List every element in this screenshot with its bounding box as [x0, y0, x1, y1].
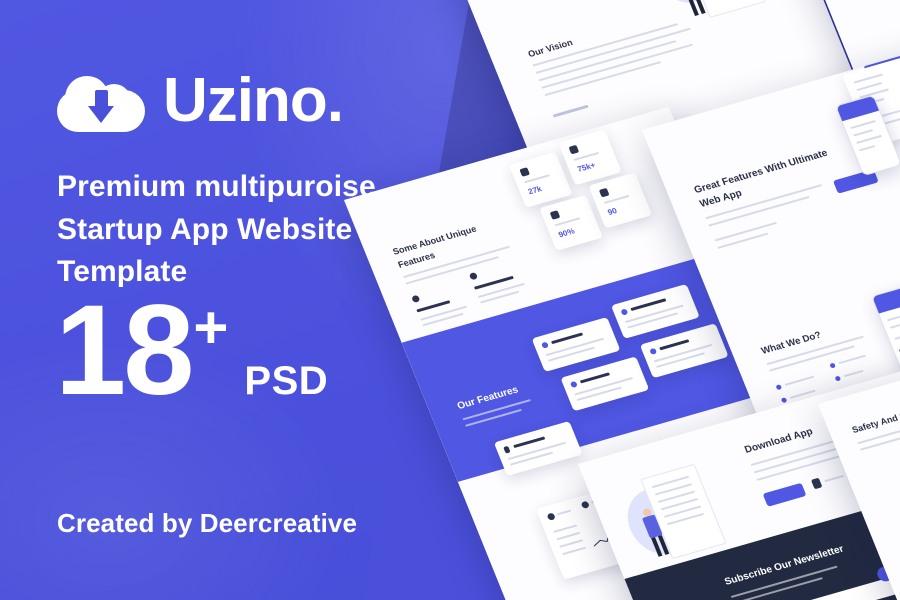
- stat-value: 27k: [527, 184, 543, 196]
- tagline: Premium multipuroise Startup App Website…: [57, 166, 477, 294]
- count-plus: +: [193, 298, 228, 358]
- stat-value: 75k+: [576, 161, 597, 174]
- brand-logo: Uzino.: [57, 70, 343, 132]
- tagline-line-1: Premium multipuroise: [57, 166, 477, 209]
- psd-count: 18 + PSD: [55, 292, 328, 410]
- stat-value: 90: [606, 206, 618, 217]
- left-text-panel: Uzino. Premium multipuroise Startup App …: [0, 0, 470, 600]
- promo-banner: Power Up Your Workflow Automation 27,882…: [0, 0, 900, 600]
- stat-value: 90%: [557, 227, 576, 240]
- brand-wordmark: Uzino.: [163, 70, 343, 132]
- count-number: 18: [55, 292, 191, 410]
- count-format: PSD: [244, 359, 328, 404]
- credit-line: Created by Deercreative: [57, 508, 357, 539]
- cloud-download-icon: [57, 70, 145, 132]
